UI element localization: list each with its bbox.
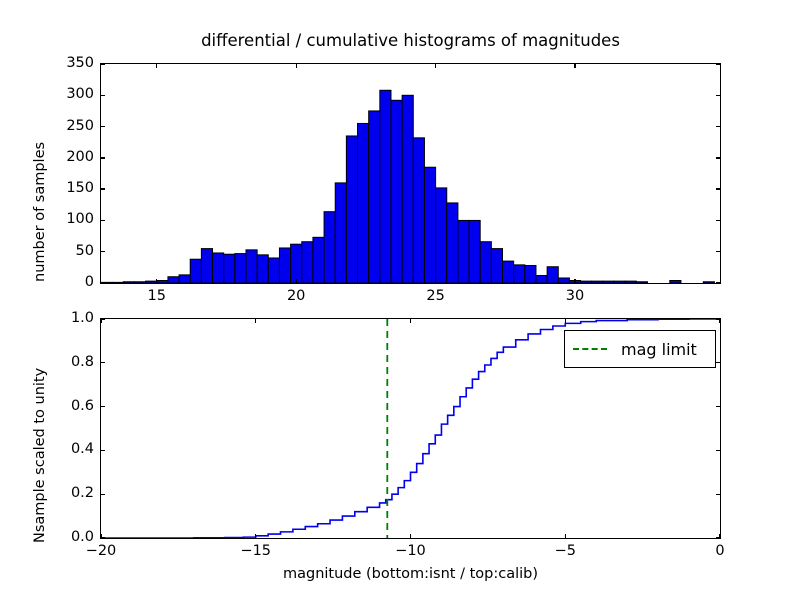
ytick-mark	[716, 406, 720, 407]
histogram-bar	[190, 259, 201, 283]
histogram-bar	[503, 261, 514, 283]
xtick-label: 25	[406, 288, 466, 304]
ytick-mark	[101, 450, 105, 451]
mag-limit-line-icon	[573, 348, 607, 350]
xtick-mark	[565, 534, 566, 538]
histogram-bar	[458, 220, 469, 283]
ytick-label: 350	[46, 55, 94, 71]
ytick-label: 0.6	[46, 398, 94, 414]
xtick-mark	[156, 64, 157, 68]
histogram-bar	[514, 265, 525, 283]
ytick-mark	[101, 63, 105, 64]
xtick-mark	[255, 319, 256, 323]
histogram-bar	[324, 212, 335, 283]
histogram-bar	[380, 90, 391, 283]
ytick-mark	[716, 450, 720, 451]
histogram-bar	[558, 278, 569, 283]
histogram-bar	[302, 242, 313, 283]
histogram-bar	[246, 250, 257, 283]
ytick-mark	[101, 406, 105, 407]
histogram-bar	[291, 244, 302, 283]
ytick-mark	[101, 220, 105, 221]
ytick-label: 150	[46, 180, 94, 196]
histogram-bar	[179, 275, 190, 283]
xtick-label: −10	[381, 543, 441, 559]
histogram-bar	[213, 253, 224, 283]
ytick-label: 100	[46, 211, 94, 227]
histogram-bar	[402, 95, 413, 283]
ytick-label: 0	[46, 274, 94, 290]
ytick-mark	[101, 251, 105, 252]
ytick-label: 50	[46, 243, 94, 259]
histogram-bar	[268, 258, 279, 283]
histogram-bar	[525, 265, 536, 283]
histogram-bar	[391, 100, 402, 283]
histogram-bar	[358, 123, 369, 283]
xtick-mark	[100, 319, 101, 323]
legend-label-mag-limit: mag limit	[621, 340, 697, 359]
histogram-bar	[279, 248, 290, 283]
xtick-mark	[100, 534, 101, 538]
ytick-mark	[716, 494, 720, 495]
ytick-mark	[716, 157, 720, 158]
histogram-bar	[469, 220, 480, 283]
xtick-label: 20	[266, 288, 326, 304]
xtick-mark	[565, 319, 566, 323]
ytick-mark	[101, 126, 105, 127]
histogram-bar	[201, 249, 212, 283]
xtick-label: 30	[545, 288, 605, 304]
histogram-bar	[625, 281, 636, 283]
xtick-mark	[719, 534, 720, 538]
xtick-label: 15	[127, 288, 187, 304]
ytick-label: 200	[46, 149, 94, 165]
histogram-bar	[146, 281, 157, 283]
ytick-mark	[716, 251, 720, 252]
histogram-bar	[257, 255, 268, 283]
ytick-mark	[101, 494, 105, 495]
legend[interactable]: mag limit	[564, 330, 716, 368]
histogram-bar	[614, 281, 625, 283]
xtick-label: −20	[71, 543, 131, 559]
histogram-bar	[112, 282, 123, 283]
histogram-bar	[369, 111, 380, 283]
xtick-mark	[156, 279, 157, 283]
ytick-label: 0.2	[46, 485, 94, 501]
bottom-panel-xlabel: magnitude (bottom:isnt / top:calib)	[100, 566, 721, 582]
histogram-bar	[123, 282, 134, 283]
xtick-mark	[296, 64, 297, 68]
xtick-mark	[574, 279, 575, 283]
histogram-bar	[134, 282, 145, 283]
ytick-label: 250	[46, 118, 94, 134]
ytick-mark	[101, 188, 105, 189]
histogram-bar	[424, 167, 435, 283]
histogram-bar	[168, 277, 179, 283]
ytick-mark	[716, 220, 720, 221]
ytick-mark	[716, 126, 720, 127]
histogram-bar	[581, 281, 592, 283]
ytick-mark	[101, 157, 105, 158]
histogram-bar	[491, 249, 502, 283]
histogram-bar	[335, 183, 346, 283]
ytick-label: 0.4	[46, 441, 94, 457]
ytick-mark	[101, 282, 105, 283]
xtick-mark	[574, 64, 575, 68]
xtick-label: −15	[226, 543, 286, 559]
ytick-mark	[101, 95, 105, 96]
xtick-mark	[410, 319, 411, 323]
histogram-bar	[536, 275, 547, 283]
figure-canvas: differential / cumulative histograms of …	[0, 0, 800, 600]
ytick-mark	[716, 362, 720, 363]
ytick-mark	[716, 95, 720, 96]
ytick-mark	[716, 63, 720, 64]
histogram-bar	[547, 267, 558, 283]
histogram-bar	[670, 281, 681, 284]
differential-histogram-plot	[101, 64, 720, 283]
histogram-bar	[603, 281, 614, 283]
ytick-label: 1.0	[46, 310, 94, 326]
histogram-bar	[224, 254, 235, 283]
histogram-bar	[313, 237, 324, 283]
histogram-bar	[346, 136, 357, 283]
xtick-mark	[719, 319, 720, 323]
ytick-mark	[101, 362, 105, 363]
page-title: differential / cumulative histograms of …	[100, 31, 721, 50]
xtick-label: 0	[690, 543, 750, 559]
histogram-bar	[157, 281, 168, 284]
xtick-mark	[255, 534, 256, 538]
histogram-bar	[413, 138, 424, 283]
xtick-label: −5	[535, 543, 595, 559]
histogram-bar	[636, 282, 647, 283]
histogram-bar	[592, 281, 603, 283]
histogram-bar	[436, 188, 447, 283]
xtick-mark	[435, 64, 436, 68]
histogram-bar	[235, 254, 246, 283]
histogram-bar	[447, 203, 458, 283]
xtick-mark	[435, 279, 436, 283]
ytick-mark	[716, 188, 720, 189]
histogram-bar	[703, 282, 714, 283]
differential-histogram-axes	[100, 63, 721, 284]
xtick-mark	[410, 534, 411, 538]
histogram-bar	[480, 242, 491, 283]
xtick-mark	[296, 279, 297, 283]
ytick-label: 300	[46, 86, 94, 102]
ytick-label: 0.8	[46, 354, 94, 370]
ytick-mark	[716, 282, 720, 283]
